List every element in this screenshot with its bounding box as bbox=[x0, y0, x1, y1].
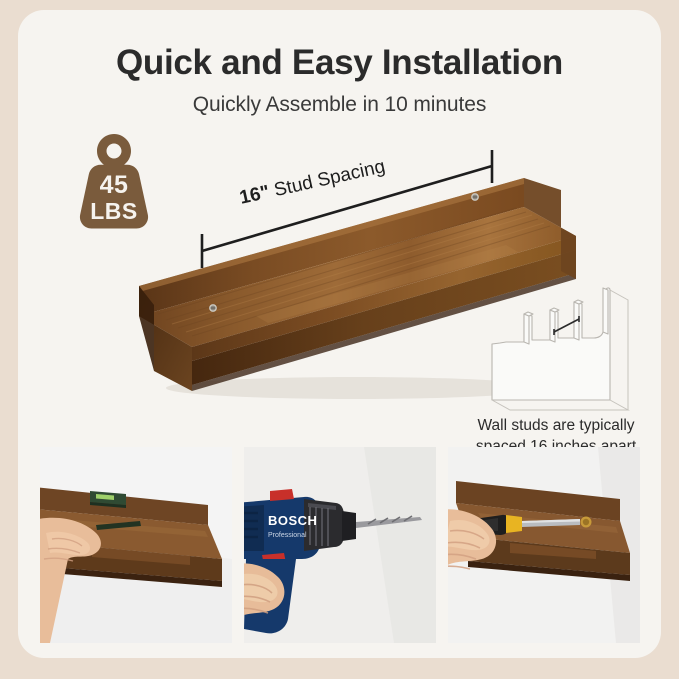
hand-holding-drill-icon: BOSCH Professional bbox=[244, 447, 436, 643]
screw bbox=[581, 517, 592, 528]
svg-text:Professional: Professional bbox=[268, 532, 307, 539]
hand-holding-shelf-with-level-icon bbox=[40, 447, 232, 643]
infographic-canvas: Quick and Easy Installation Quickly Asse… bbox=[0, 0, 679, 679]
installation-step-photos: BOSCH Professional bbox=[40, 447, 640, 643]
step-photo-drill-holes: BOSCH Professional bbox=[244, 447, 436, 643]
step-photo-level-shelf bbox=[40, 447, 232, 643]
stud-spacing-dimension: 16" Stud Spacing bbox=[178, 150, 518, 280]
step-photo-screw-shelf bbox=[448, 447, 640, 643]
wall-stud-diagram bbox=[470, 272, 650, 412]
hand-with-screwdriver-icon bbox=[448, 447, 640, 643]
page-title: Quick and Easy Installation bbox=[18, 43, 661, 83]
content-card: Quick and Easy Installation Quickly Asse… bbox=[18, 10, 661, 658]
wall-stud-cutaway-icon bbox=[470, 272, 650, 412]
page-subtitle: Quickly Assemble in 10 minutes bbox=[18, 93, 661, 117]
screw-head bbox=[209, 304, 217, 312]
stud-caption-line-1: Wall studs are typically bbox=[450, 415, 661, 436]
svg-text:BOSCH: BOSCH bbox=[268, 513, 317, 528]
